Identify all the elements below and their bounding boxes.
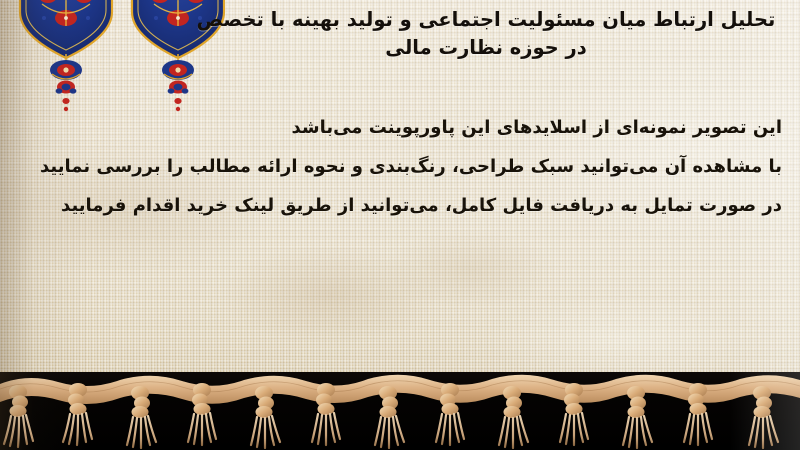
presentation-slide: تحلیل ارتباط میان مسئولیت اجتماعی و تولی… — [0, 0, 800, 450]
slide-title: تحلیل ارتباط میان مسئولیت اجتماعی و تولی… — [180, 6, 792, 62]
body-line-3: در صورت تمایل به دریافت فایل کامل، می‌تو… — [18, 186, 782, 225]
body-line-1: این تصویر نمونه‌ای از اسلایدهای این پاور… — [18, 108, 782, 147]
tassel-fringe-icon — [0, 358, 800, 450]
persian-medallion-ornament-1-icon — [14, 0, 118, 114]
carpet-tassel-fringe — [0, 358, 800, 450]
slide-body-text: این تصویر نمونه‌ای از اسلایدهای این پاور… — [18, 108, 782, 225]
title-line-2: در حوزه نظارت مالی — [180, 34, 792, 62]
body-line-2: با مشاهده آن می‌توانید سبک طراحی، رنگ‌بن… — [18, 147, 782, 186]
title-line-1: تحلیل ارتباط میان مسئولیت اجتماعی و تولی… — [180, 6, 792, 34]
